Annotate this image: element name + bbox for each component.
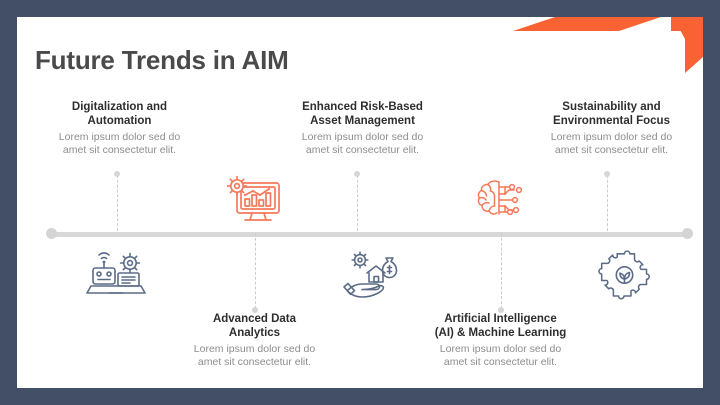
slide-canvas: Future Trends in AIM Digitalization and … [17,17,703,388]
brain-circuit-icon [471,174,531,228]
item-desc-line1-digitalization-automation: Lorem ipsum dolor sed do [59,131,180,143]
item-desc-line1-artificial-intelligence-machine-learning: Lorem ipsum dolor sed do [440,343,561,355]
item-text-artificial-intelligence-machine-learning: Artificial Intelligence (AI) & Machine L… [393,312,608,369]
connector-dot-sustainability-environmental-focus [604,171,610,177]
item-desc-line2-artificial-intelligence-machine-learning: amet sit consectetur elit. [444,356,557,368]
item-title-line1-digitalization-automation: Digitalization and [72,101,167,113]
item-desc-line2-digitalization-automation: amet sit consectetur elit. [63,144,176,156]
item-title-line2-sustainability-environmental-focus: Environmental Focus [553,115,670,127]
orange-corner-accent [513,17,703,73]
page-title: Future Trends in AIM [35,45,289,76]
connector-sustainability-environmental-focus [607,175,608,231]
item-text-digitalization-automation: Digitalization and Automation Lorem ipsu… [17,100,227,157]
item-desc-line2-advanced-data-analytics: amet sit consectetur elit. [198,356,311,368]
timeline-axis [47,232,690,237]
item-desc-line1-advanced-data-analytics: Lorem ipsum dolor sed do [194,343,315,355]
item-title-line1-artificial-intelligence-machine-learning: Artificial Intelligence [444,313,556,325]
connector-dot-digitalization-automation [114,171,120,177]
item-text-enhanced-risk-based-asset-management: Enhanced Risk-Based Asset Management Lor… [255,100,470,157]
connector-artificial-intelligence-machine-learning [501,233,502,309]
item-title-line1-enhanced-risk-based-asset-management: Enhanced Risk-Based [302,101,423,113]
monitor-bar-chart-gear-icon [223,174,287,230]
item-title-line2-digitalization-automation: Automation [88,115,152,127]
connector-advanced-data-analytics [255,233,256,309]
item-title-line2-advanced-data-analytics: Analytics [229,327,280,339]
item-desc-line2-sustainability-environmental-focus: amet sit consectetur elit. [555,144,668,156]
puzzle-gear-leaf-icon [598,249,654,301]
connector-enhanced-risk-based-asset-management [357,175,358,231]
item-desc-line2-enhanced-risk-based-asset-management: amet sit consectetur elit. [306,144,419,156]
item-title-line2-artificial-intelligence-machine-learning: (AI) & Machine Learning [435,327,567,339]
item-text-sustainability-environmental-focus: Sustainability and Environmental Focus L… [504,100,703,157]
item-title-line1-sustainability-environmental-focus: Sustainability and [562,101,660,113]
item-title-line1-advanced-data-analytics: Advanced Data [213,313,296,325]
slide-frame: Future Trends in AIM Digitalization and … [0,0,720,405]
item-text-advanced-data-analytics: Advanced Data Analytics Lorem ipsum dolo… [147,312,362,369]
item-desc-line1-enhanced-risk-based-asset-management: Lorem ipsum dolor sed do [302,131,423,143]
laptop-robot-gear-wifi-icon [85,245,149,301]
timeline-axis-cap-right [682,228,693,239]
connector-digitalization-automation [117,175,118,231]
item-desc-line1-sustainability-environmental-focus: Lorem ipsum dolor sed do [551,131,672,143]
item-title-line2-enhanced-risk-based-asset-management: Asset Management [310,115,415,127]
timeline-axis-cap-left [46,228,57,239]
hand-house-gear-money-icon [342,247,404,301]
connector-dot-enhanced-risk-based-asset-management [354,171,360,177]
